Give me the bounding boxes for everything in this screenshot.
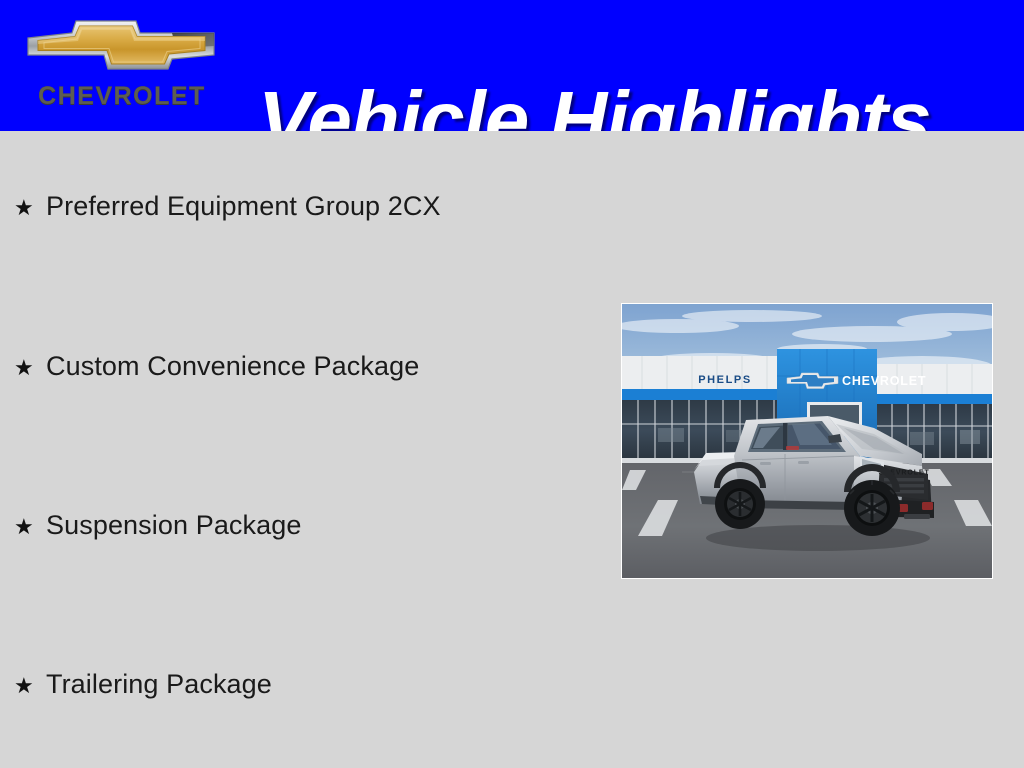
chevrolet-wordmark: CHEVROLET xyxy=(24,84,220,109)
list-item: ★ Suspension Package xyxy=(14,512,301,539)
star-bullet-icon: ★ xyxy=(14,516,46,538)
chevrolet-logo: CHEVROLET xyxy=(22,8,222,120)
vehicle-highlights-list: ★ Preferred Equipment Group 2CX ★ Custom… xyxy=(0,131,610,768)
list-item-label: Suspension Package xyxy=(46,512,301,539)
star-bullet-icon: ★ xyxy=(14,675,46,697)
star-bullet-icon: ★ xyxy=(14,197,46,219)
page-title: Vehicle Highlights xyxy=(258,68,1018,131)
vehicle-photo-image: PHELPS CHEVROLET xyxy=(622,304,992,578)
list-item-label: Preferred Equipment Group 2CX xyxy=(46,193,441,220)
star-bullet-icon: ★ xyxy=(14,357,46,379)
list-item-label: Custom Convenience Package xyxy=(46,353,419,380)
vehicle-photo: PHELPS CHEVROLET xyxy=(621,303,993,579)
list-item: ★ Trailering Package xyxy=(14,671,272,698)
chevrolet-bowtie-icon xyxy=(22,8,222,80)
list-item-label: Trailering Package xyxy=(46,671,272,698)
svg-text:PHELPS: PHELPS xyxy=(698,374,752,386)
list-item: ★ Preferred Equipment Group 2CX xyxy=(14,193,441,220)
header-band: CHEVROLET Vehicle Highlights xyxy=(0,0,1024,131)
list-item: ★ Custom Convenience Package xyxy=(14,353,419,380)
svg-text:CHEVROLET: CHEVROLET xyxy=(842,374,926,388)
slide-vehicle-highlights: CHEVROLET Vehicle Highlights ★ Preferred… xyxy=(0,0,1024,768)
